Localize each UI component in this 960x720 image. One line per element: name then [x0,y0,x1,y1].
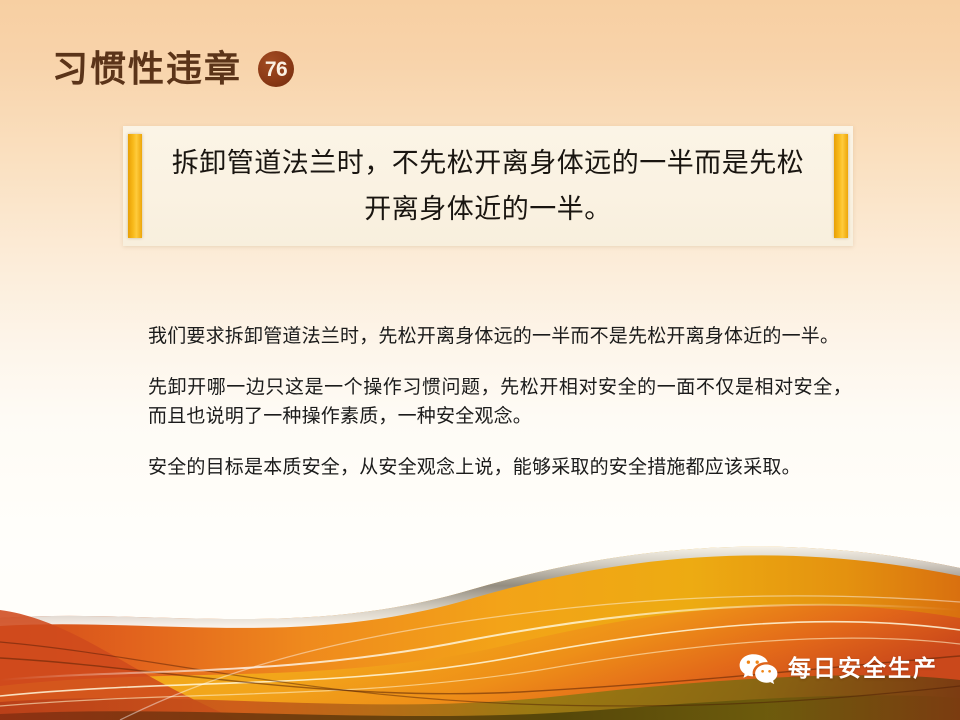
bottom-wave-graphic [0,490,960,720]
footer-account-badge: 每日安全生产 [738,652,938,684]
headline-callout-box: 拆卸管道法兰时，不先松开离身体远的一半而是先松开离身体近的一半。 [123,126,853,246]
accent-bar-left [128,134,142,238]
body-paragraph-2: 先卸开哪一边只这是一个操作习惯问题，先松开相对安全的一面不仅是相对安全，而且也说… [148,373,852,431]
page-title: 习惯性违章 [52,51,242,87]
body-copy: 我们要求拆卸管道法兰时，先松开离身体远的一半而不是先松开离身体近的一半。 先卸开… [148,322,852,482]
number-badge-circle: 76 [258,51,294,87]
wechat-icon [738,652,778,684]
body-paragraph-3: 安全的目标是本质安全，从安全观念上说，能够采取的安全措施都应该采取。 [148,453,852,482]
badge-number: 76 [265,59,287,80]
slide-header: 习惯性违章 76 [52,44,294,94]
headline-text: 拆卸管道法兰时，不先松开离身体远的一半而是先松开离身体近的一半。 [123,140,853,232]
accent-bar-right [834,134,848,238]
slide-canvas: 习惯性违章 76 拆卸管道法兰时，不先松开离身体远的一半而是先松开离身体近的一半… [0,0,960,720]
body-paragraph-1: 我们要求拆卸管道法兰时，先松开离身体远的一半而不是先松开离身体近的一半。 [148,322,852,351]
footer-account-label: 每日安全生产 [788,657,938,680]
